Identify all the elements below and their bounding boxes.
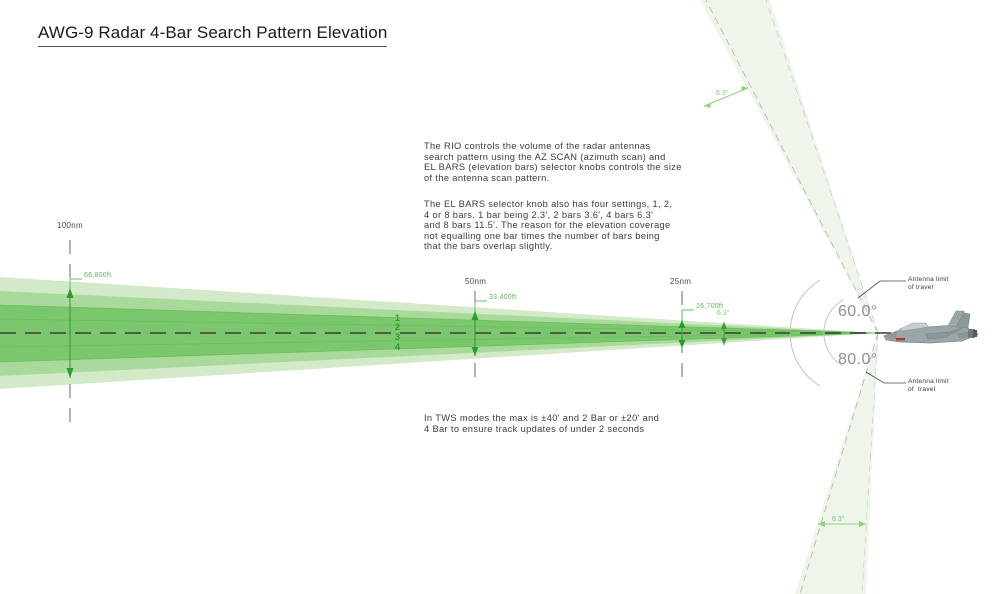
- cone-angle-label-upper: 6.3°: [716, 90, 729, 97]
- range-label-25nm: 25nm: [670, 277, 691, 286]
- note-tws-modes: In TWS modes the max is ±40' and 2 Bar o…: [424, 413, 659, 434]
- cone-angle-label-lower: 6.3°: [832, 516, 845, 523]
- altitude-label-100nm: 66,800ft: [84, 272, 111, 279]
- antenna-limit-label-lower: Antenna limit of travel: [908, 378, 949, 394]
- elevation-angle-label: 6.3°: [717, 310, 730, 317]
- bar-number-2: 2: [395, 322, 400, 332]
- antenna-travel-cone-upper: [700, 0, 878, 333]
- page-title: AWG-9 Radar 4-Bar Search Pattern Elevati…: [38, 23, 387, 47]
- lower-scan-angle-label: 80.0°: [838, 351, 878, 369]
- range-label-100nm: 100nm: [57, 221, 83, 230]
- antenna-travel-cone-lower: [795, 333, 878, 594]
- altitude-label-50nm: 33,400ft: [489, 294, 516, 301]
- note-el-bars: The EL BARS selector knob also has four …: [424, 199, 672, 252]
- bar-number-3: 3: [395, 332, 400, 342]
- aircraft-silhouette: [884, 311, 978, 343]
- antenna-limit-label-upper: Antenna limit of travel: [908, 276, 949, 292]
- upper-scan-angle-label: 60.0°: [838, 303, 878, 321]
- altitude-label-25nm: 16,700ft: [696, 303, 723, 310]
- diagram-page: AWG-9 Radar 4-Bar Search Pattern Elevati…: [0, 0, 1000, 594]
- note-rio-controls: The RIO controls the volume of the radar…: [424, 141, 682, 183]
- bar-number-4: 4: [395, 342, 400, 352]
- range-label-50nm: 50nm: [465, 277, 486, 286]
